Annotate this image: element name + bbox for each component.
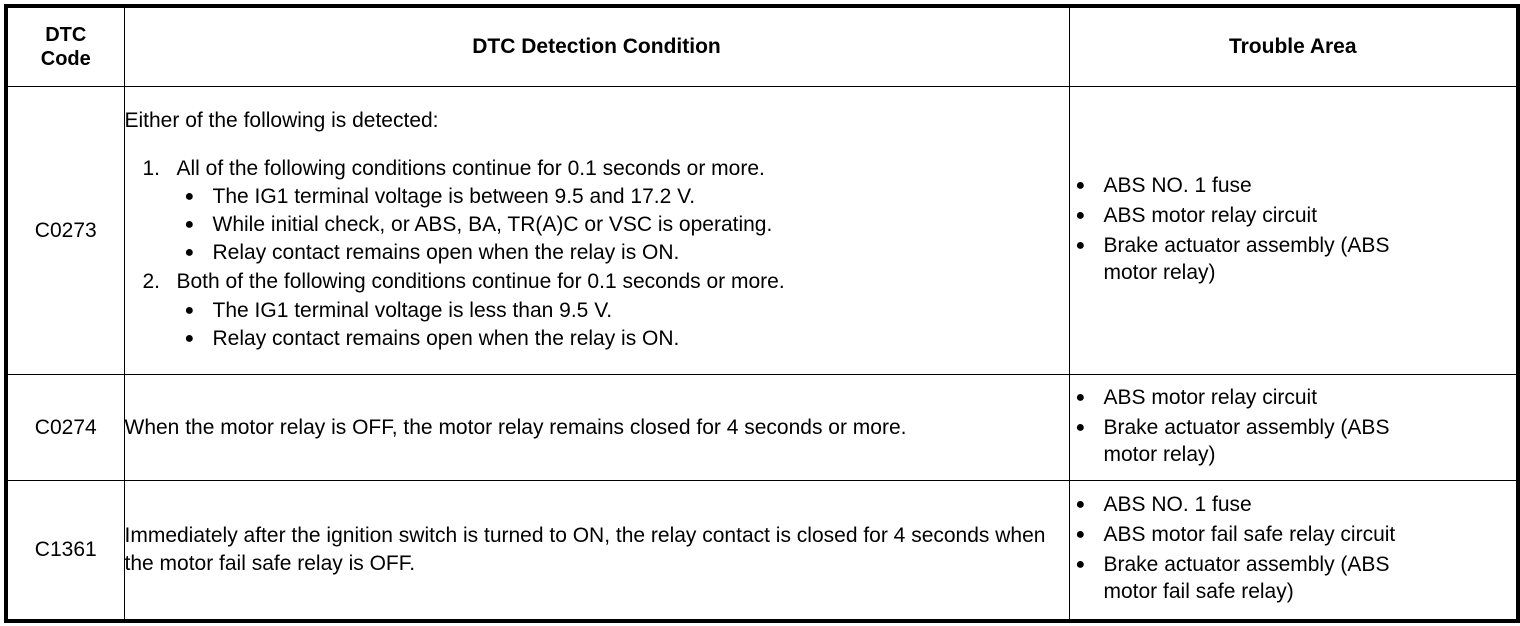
bullet-icon: ● bbox=[185, 183, 195, 211]
condition-lead-text: When the motor relay is OFF, the motor r… bbox=[125, 414, 1069, 442]
bullet-icon: ● bbox=[1076, 202, 1086, 230]
detection-condition-cell: When the motor relay is OFF, the motor r… bbox=[124, 375, 1069, 481]
bullet-icon: ● bbox=[185, 211, 195, 239]
condition-bullet-item: ● The IG1 terminal voltage is less than … bbox=[177, 297, 1069, 325]
trouble-area-item: ● Brake actuator assembly (ABS motor rel… bbox=[1070, 232, 1517, 287]
condition-numbered-list: 1. All of the following conditions conti… bbox=[125, 155, 1069, 353]
trouble-area-item: ● ABS NO. 1 fuse bbox=[1070, 491, 1517, 519]
table-row: C0274 When the motor relay is OFF, the m… bbox=[6, 375, 1518, 481]
bullet-icon: ● bbox=[1076, 172, 1086, 200]
trouble-area-item: ● Brake actuator assembly (ABS motor rel… bbox=[1070, 414, 1517, 469]
bullet-text: While initial check, or ABS, BA, TR(A)C … bbox=[213, 213, 773, 236]
trouble-area-list: ● ABS motor relay circuit ● Brake actuat… bbox=[1070, 384, 1517, 469]
column-header-dtc-code-line1: DTC bbox=[8, 23, 124, 47]
trouble-area-item: ● ABS NO. 1 fuse bbox=[1070, 172, 1517, 200]
trouble-area-list: ● ABS NO. 1 fuse ● ABS motor fail safe r… bbox=[1070, 491, 1517, 606]
dtc-code-cell: C0274 bbox=[6, 375, 124, 481]
dtc-code-cell: C1361 bbox=[6, 481, 124, 621]
trouble-area-text-continued: motor relay) bbox=[1104, 259, 1517, 287]
trouble-area-text: ABS NO. 1 fuse bbox=[1104, 493, 1252, 516]
trouble-area-list: ● ABS NO. 1 fuse ● ABS motor relay circu… bbox=[1070, 172, 1517, 287]
bullet-icon: ● bbox=[185, 239, 195, 267]
dtc-table: DTC Code DTC Detection Condition Trouble… bbox=[4, 4, 1520, 623]
bullet-icon: ● bbox=[1076, 551, 1086, 579]
condition-numbered-item: 2. Both of the following conditions cont… bbox=[125, 268, 1069, 352]
trouble-area-text: ABS NO. 1 fuse bbox=[1104, 174, 1252, 197]
trouble-area-item: ● ABS motor fail safe relay circuit bbox=[1070, 521, 1517, 549]
condition-lead-text: Either of the following is detected: bbox=[125, 107, 1069, 135]
bullet-icon: ● bbox=[1076, 491, 1086, 519]
bullet-icon: ● bbox=[1076, 232, 1086, 260]
trouble-area-text: Brake actuator assembly (ABS bbox=[1104, 553, 1390, 576]
trouble-area-item: ● ABS motor relay circuit bbox=[1070, 202, 1517, 230]
bullet-icon: ● bbox=[1076, 414, 1086, 442]
detection-condition-cell: Either of the following is detected: 1. … bbox=[124, 87, 1069, 375]
column-header-dtc-code-line2: Code bbox=[8, 47, 124, 71]
list-number: 1. bbox=[143, 155, 173, 183]
bullet-text: The IG1 terminal voltage is less than 9.… bbox=[213, 299, 613, 322]
trouble-area-cell: ● ABS NO. 1 fuse ● ABS motor relay circu… bbox=[1069, 87, 1518, 375]
condition-bullet-list: ● The IG1 terminal voltage is between 9.… bbox=[177, 183, 1069, 267]
condition-bullet-item: ● Relay contact remains open when the re… bbox=[177, 325, 1069, 353]
trouble-area-text: Brake actuator assembly (ABS bbox=[1104, 416, 1390, 439]
trouble-area-item: ● ABS motor relay circuit bbox=[1070, 384, 1517, 412]
trouble-area-text: Brake actuator assembly (ABS bbox=[1104, 234, 1390, 257]
trouble-area-text-continued: motor fail safe relay) bbox=[1104, 578, 1517, 606]
list-item-text: All of the following conditions continue… bbox=[177, 157, 765, 180]
trouble-area-cell: ● ABS motor relay circuit ● Brake actuat… bbox=[1069, 375, 1518, 481]
list-item-text: Both of the following conditions continu… bbox=[177, 270, 785, 293]
header-row: DTC Code DTC Detection Condition Trouble… bbox=[6, 6, 1518, 87]
bullet-text: Relay contact remains open when the rela… bbox=[213, 327, 680, 350]
trouble-area-text-continued: motor relay) bbox=[1104, 441, 1517, 469]
bullet-icon: ● bbox=[1076, 521, 1086, 549]
list-number: 2. bbox=[143, 268, 173, 296]
condition-lead-text: Immediately after the ignition switch is… bbox=[125, 522, 1069, 577]
detection-condition-cell: Immediately after the ignition switch is… bbox=[124, 481, 1069, 621]
condition-bullet-item: ● While initial check, or ABS, BA, TR(A)… bbox=[177, 211, 1069, 239]
table-body: C0273 Either of the following is detecte… bbox=[6, 87, 1518, 621]
table-row: C1361 Immediately after the ignition swi… bbox=[6, 481, 1518, 621]
trouble-area-item: ● Brake actuator assembly (ABS motor fai… bbox=[1070, 551, 1517, 606]
trouble-area-text: ABS motor relay circuit bbox=[1104, 204, 1318, 227]
trouble-area-text: ABS motor relay circuit bbox=[1104, 386, 1318, 409]
table-row: C0273 Either of the following is detecte… bbox=[6, 87, 1518, 375]
condition-bullet-item: ● Relay contact remains open when the re… bbox=[177, 239, 1069, 267]
bullet-icon: ● bbox=[185, 297, 195, 325]
dtc-table-page: DTC Code DTC Detection Condition Trouble… bbox=[0, 4, 1520, 626]
condition-numbered-item: 1. All of the following conditions conti… bbox=[125, 155, 1069, 268]
bullet-text: The IG1 terminal voltage is between 9.5 … bbox=[213, 185, 696, 208]
trouble-area-cell: ● ABS NO. 1 fuse ● ABS motor fail safe r… bbox=[1069, 481, 1518, 621]
column-header-dtc-code: DTC Code bbox=[6, 6, 124, 87]
bullet-text: Relay contact remains open when the rela… bbox=[213, 241, 680, 264]
bullet-icon: ● bbox=[185, 325, 195, 353]
spacer bbox=[125, 135, 1069, 155]
column-header-detection-condition: DTC Detection Condition bbox=[124, 6, 1069, 87]
table-header: DTC Code DTC Detection Condition Trouble… bbox=[6, 6, 1518, 87]
condition-bullet-item: ● The IG1 terminal voltage is between 9.… bbox=[177, 183, 1069, 211]
column-header-trouble-area: Trouble Area bbox=[1069, 6, 1518, 87]
trouble-area-text: ABS motor fail safe relay circuit bbox=[1104, 523, 1396, 546]
condition-bullet-list: ● The IG1 terminal voltage is less than … bbox=[177, 297, 1069, 353]
bullet-icon: ● bbox=[1076, 384, 1086, 412]
dtc-code-cell: C0273 bbox=[6, 87, 124, 375]
